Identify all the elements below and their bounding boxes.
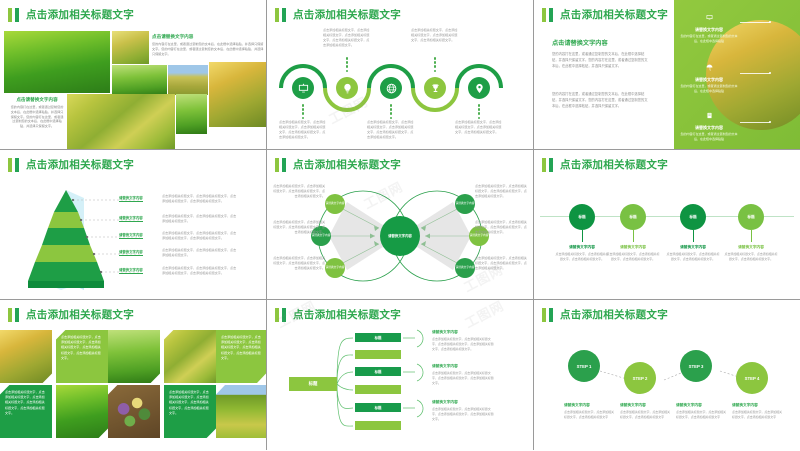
satellite-label: 请替换文字内容 [456, 266, 475, 269]
step-label: STEP 3 [689, 364, 704, 369]
mosaic-text: 点击添加相关标题文字，点击添加相关标题文字，点击添加相关标题文字，点击添加相关标… [61, 335, 103, 361]
pin-body: 点击添加相关标题文字，点击添加相关标题文字，点击添加相关标题文字。 [606, 252, 660, 261]
mosaic-text: 点击添加相关标题文字，点击添加相关标题文字，点击添加相关标题文字，点击添加相关标… [169, 390, 211, 416]
p3-item[interactable]: 请替换文字内容 您的内容打在这里，或者通过复制您的文本后，在此框中选择粘贴 [680, 58, 738, 94]
hub-text: 点击添加相关标题文字，点击添加相关标题文字，点击添加相关标题文字，点击添加相关标… [475, 256, 527, 271]
mosaic-photo-vegetable-basket [108, 385, 160, 438]
pyramid-level-body: 点击添加相关标题文字，点击添加相关标题文字，点击添加相关标题文字，点击添加相关标… [162, 266, 238, 276]
photo-rice-grass-green [176, 94, 207, 134]
branch-label: 标题 [375, 405, 382, 410]
timeline-pin[interactable]: 标题 [680, 204, 706, 242]
pin-title: 请替换文字内容 [555, 245, 609, 250]
pyramid-level-label: 请替换文字内容 [119, 267, 143, 274]
page-title: 点击添加相关标题文字 [560, 157, 668, 172]
step-circle[interactable]: STEP 3 [680, 350, 712, 382]
node-text: 点击添加相关标题文字，点击添加相关标题文字，点击添加相关标题文字，点击添加相关标… [411, 28, 459, 43]
page-title: 点击添加相关标题文字 [26, 307, 134, 322]
mindmap-branch[interactable]: 标题 [355, 367, 401, 376]
accent-bar-light [8, 308, 12, 322]
node-icon-trophy[interactable] [424, 77, 446, 99]
caption-title: 请替换文字内容 [620, 403, 672, 408]
node-icon-globe[interactable] [380, 77, 402, 99]
caption-title: 请替换文字内容 [564, 403, 616, 408]
pin-caption: 请替换文字内容 点击添加相关标题文字，点击添加相关标题文字，点击添加相关标题文字… [606, 245, 660, 261]
branch-label: 标题 [375, 369, 382, 374]
page-title: 点击添加相关标题文字 [560, 7, 668, 22]
hub-text: 点击添加相关标题文字，点击添加相关标题文字，点击添加相关标题文字，点击添加相关标… [273, 256, 325, 271]
panel-header: 点击添加相关标题文字 [275, 7, 401, 22]
page-title: 点击添加相关标题文字 [26, 7, 134, 22]
caption-title: 请替换文字内容 [432, 364, 494, 369]
mindmap-branch[interactable]: 标题 [355, 333, 401, 342]
pin-marker: 标题 [620, 204, 646, 230]
panel-photo-text-mosaic: 点击添加相关标题文字 点击添加相关标题文字，点击添加相关标题文字，点击添加相关标… [0, 300, 266, 450]
node-icon-lightbulb[interactable] [336, 77, 358, 99]
panel-header: 点击添加相关标题文字 [8, 307, 134, 322]
pyramid-level-body: 点击添加相关标题文字，点击添加相关标题文字，点击添加相关标题文字。 [162, 248, 238, 258]
pin-stem [693, 230, 694, 242]
caption-body: 点击添加相关标题文字，点击添加相关标题文字，点击添加相关标题文字 [620, 410, 672, 419]
caption-title: 请替换文字内容 [676, 403, 728, 408]
step-caption: 请替换文字内容 点击添加相关标题文字，点击添加相关标题文字，点击添加相关标题文字 [620, 403, 672, 419]
pin-marker: 标题 [680, 204, 706, 230]
pin-title: 请替换文字内容 [606, 245, 660, 250]
leader-line [740, 122, 770, 123]
mindmap-branch-sub[interactable] [355, 350, 401, 359]
accent-bar-dark [15, 308, 19, 322]
connector-dots [346, 57, 349, 72]
pin-body: 点击添加相关标题文字，点击添加相关标题文字，点击添加相关标题文字。 [724, 252, 778, 261]
trophy-icon [430, 83, 441, 94]
pin-marker-label: 标题 [689, 215, 696, 220]
accent-bar-dark [15, 8, 19, 22]
page-title: 点击添加相关标题文字 [293, 7, 401, 22]
caption-body: 点击添加相关标题文字，点击添加相关标题文字，点击添加相关标题文字 [676, 410, 728, 419]
hub-diagram: 请替换文字内容 请替换文字内容 请替换文字内容 请替换文字内容 请替换文字内容 … [267, 172, 533, 299]
caption-top: 点击请替换文字内容 您的内容打在这里，或者通过复制您的文本后，在此框中选择粘贴，… [152, 34, 264, 56]
satellite-label: 请替换文字内容 [326, 266, 345, 269]
caption-body: 您的内容打在这里，或者通过复制您的文本后，在此框中选择粘贴，并选择只保留文字。您… [152, 42, 264, 56]
umbrella-icon [706, 58, 713, 75]
mosaic-text: 点击添加相关标题文字，点击添加相关标题文字，点击添加相关标题文字，点击添加相关标… [5, 390, 47, 416]
mindmap-caption: 请替换文字内容 点击添加相关标题文字，点击添加相关标题文字，点击添加相关标题文字… [432, 330, 494, 351]
caption-body: 点击添加相关标题文字，点击添加相关标题文字，点击添加相关标题文字 [732, 410, 784, 419]
panel-header: 点击添加相关标题文字 [275, 157, 401, 172]
photo-wheat-ears-gold [112, 31, 149, 64]
step-caption: 请替换文字内容 点击添加相关标题文字，点击添加相关标题文字，点击添加相关标题文字 [676, 403, 728, 419]
accent-bar-light [542, 8, 546, 22]
pin-title: 请替换文字内容 [666, 245, 720, 250]
item-body: 您的内容打在这里，或者通过复制您的文本后，在此框中选择粘贴 [680, 132, 738, 142]
connector-dots [478, 104, 481, 119]
timeline-pin[interactable]: 标题 [738, 204, 764, 242]
mosaic-photo-rice-sprout-green [108, 330, 160, 383]
photo-rice-sprout-close [112, 65, 167, 95]
branch-label: 标题 [375, 335, 382, 340]
p3-item[interactable]: 请替换文字内容 您的内容打在这里，或者通过复制您的文本后，在此框中选择粘贴 [680, 8, 738, 44]
p3-item[interactable]: 请替换文字内容 您的内容打在这里，或者通过复制您的文本后，在此框中选择粘贴 [680, 106, 738, 142]
pin-marker-label: 标题 [629, 215, 636, 220]
pin-stem [751, 230, 752, 242]
mosaic-photo-wheat-ears-gold [0, 330, 52, 383]
step-caption: 请替换文字内容 点击添加相关标题文字，点击添加相关标题文字，点击添加相关标题文字 [732, 403, 784, 419]
item-title: 请替换文字内容 [680, 27, 738, 33]
pyramid-level-label: 请替换文字内容 [119, 195, 143, 202]
connector-dots [390, 104, 393, 119]
node-icon-monitor[interactable] [292, 77, 314, 99]
pin-caption: 请替换文字内容 点击添加相关标题文字，点击添加相关标题文字，点击添加相关标题文字… [555, 245, 609, 261]
panel-header: 点击添加相关标题文字 [542, 157, 668, 172]
mosaic-photo-field-landscape [164, 330, 216, 383]
mindmap-branch[interactable]: 标题 [355, 403, 401, 412]
panel-mind-map-brackets: 点击添加相关标题文字 标题 [267, 300, 533, 450]
location-pin-icon [474, 83, 485, 94]
monitor-icon [706, 8, 713, 25]
pin-stem [633, 230, 634, 242]
photo-open-field-sky [168, 65, 208, 95]
mosaic-text-cell: 点击添加相关标题文字，点击添加相关标题文字，点击添加相关标题文字，点击添加相关标… [164, 385, 216, 438]
panel-header: 点击添加相关标题文字 [8, 7, 134, 22]
panel-header: 点击添加相关标题文字 [275, 307, 401, 322]
panel-hub-and-spoke: 点击添加相关标题文字 请替换文字内容 [267, 150, 533, 299]
panel-step-circles: 点击添加相关标题文字 STEP 1 STEP 2 STEP 3 STEP 4 请… [534, 300, 800, 450]
globe-icon [386, 83, 397, 94]
node-text: 点击添加相关标题文字，点击添加相关标题文字，点击添加相关标题文字，点击添加相关标… [455, 120, 503, 135]
pyramid-level-label: 请替换文字内容 [119, 249, 143, 256]
mindmap-branch-sub[interactable] [355, 385, 401, 394]
caption-body: 点击添加相关标题文字，点击添加相关标题文字，点击添加相关标题文字，点击添加相关标… [432, 407, 494, 421]
node-text: 点击添加相关标题文字，点击添加相关标题文字，点击添加相关标题文字，点击添加相关标… [367, 120, 415, 140]
hub-text: 点击添加相关标题文字，点击添加相关标题文字，点击添加相关标题文字，点击添加相关标… [475, 220, 527, 235]
hub-satellite[interactable]: 请替换文字内容 [325, 194, 345, 214]
mindmap-root-label: 标题 [309, 381, 318, 387]
panel-pyramid-levels: 点击添加相关标题文字 请替换文字内容 请替换文字内容 请替换文 [0, 150, 266, 299]
photo-rice-paddy-green [4, 31, 110, 93]
hub-satellite[interactable]: 请替换文字内容 [325, 258, 345, 278]
pyramid-level-body: 点击添加相关标题文字，点击添加相关标题文字，点击添加相关标题文字，点击添加相关标… [162, 194, 238, 204]
pin-body: 点击添加相关标题文字，点击添加相关标题文字，点击添加相关标题文字。 [555, 252, 609, 261]
lead-paragraph-2: 您的内容打在这里，或者通过复制您的文本后，在此框中选择粘贴，并选择只保留文字。您… [552, 92, 648, 109]
accent-bar-dark [549, 158, 553, 172]
lead-heading: 点击请替换文字内容 [552, 38, 608, 47]
accent-bar-light [8, 8, 12, 22]
mindmap-caption: 请替换文字内容 点击添加相关标题文字，点击添加相关标题文字，点击添加相关标题文字… [432, 400, 494, 421]
pyramid-level-body: 点击添加相关标题文字，点击添加相关标题文字，点击添加相关标题文字。 [162, 214, 238, 224]
panel-split-image-text: 点击添加相关标题文字 点击请替换文字内容 您的内容打在这里，或者通过复制您的文本… [534, 0, 800, 149]
connector-dots [302, 104, 305, 119]
item-title: 请替换文字内容 [680, 77, 738, 83]
satellite-label: 请替换文字内容 [456, 202, 475, 205]
step-circle[interactable]: STEP 1 [568, 350, 600, 382]
mosaic-text-cell: 点击添加相关标题文字，点击添加相关标题文字，点击添加相关标题文字，点击添加相关标… [0, 385, 52, 438]
hub-satellite[interactable]: 请替换文字内容 [455, 258, 475, 278]
connector-dots [434, 57, 437, 72]
satellite-label: 请替换文字内容 [312, 234, 331, 237]
monitor-icon [298, 83, 309, 94]
caption-body: 点击添加相关标题文字，点击添加相关标题文字，点击添加相关标题文字，点击添加相关标… [432, 371, 494, 385]
step-circle[interactable]: STEP 2 [624, 362, 656, 394]
leader-line [740, 73, 770, 74]
pyramid-level-label: 请替换文字内容 [119, 215, 143, 222]
hub-text: 点击添加相关标题文字，点击添加相关标题文字，点击添加相关标题文字，点击添加相关标… [273, 220, 325, 235]
accent-bar-light [275, 308, 279, 322]
hub-center-node[interactable]: 请替换文字内容 [380, 216, 420, 256]
item-body: 您的内容打在这里，或者通过复制您的文本后，在此框中选择粘贴 [680, 34, 738, 44]
lightbulb-icon [342, 83, 353, 94]
mosaic-text-cell: 点击添加相关标题文字，点击添加相关标题文字，点击添加相关标题文字，点击添加相关标… [56, 330, 108, 383]
wave-diagram: 点击添加相关标题文字，点击添加相关标题文字，点击添加相关标题文字，点击添加相关标… [267, 22, 533, 149]
step-label: STEP 1 [577, 364, 592, 369]
mindmap-diagram: 标题 标题 标题 标题 请替换文字内容 点击添加相关标题文字，点击添加相关标题文… [267, 322, 533, 450]
accent-bar-light [275, 158, 279, 172]
node-icon-location-pin[interactable] [468, 77, 490, 99]
caption-title: 请替换文字内容 [432, 400, 494, 405]
pin-body: 点击添加相关标题文字，点击添加相关标题文字，点击添加相关标题文字。 [666, 252, 720, 261]
photo-rice-stalk-gold [209, 62, 266, 127]
caption-title: 请替换文字内容 [732, 403, 784, 408]
accent-bar-light [542, 158, 546, 172]
book-icon [706, 106, 713, 123]
accent-bar-light [275, 8, 279, 22]
pin-marker: 标题 [738, 204, 764, 230]
caption-body: 点击添加相关标题文字，点击添加相关标题文字，点击添加相关标题文字，点击添加相关标… [432, 337, 494, 351]
page-title: 点击添加相关标题文字 [293, 157, 401, 172]
node-text: 点击添加相关标题文字，点击添加相关标题文字，点击添加相关标题文字，点击添加相关标… [323, 28, 371, 48]
accent-bar-dark [549, 8, 553, 22]
caption-body: 点击添加相关标题文字，点击添加相关标题文字，点击添加相关标题文字 [564, 410, 616, 419]
pyramid-level-label: 请替换文字内容 [119, 232, 143, 239]
mindmap-root[interactable]: 标题 [289, 377, 337, 391]
caption-body: 您的内容打在这里，或者通过复制您的文本后，在此框中选择粘贴，并选择只保留文字。您… [10, 105, 64, 129]
panel-header: 点击添加相关标题文字 [542, 7, 668, 22]
satellite-label: 请替换文字内容 [326, 202, 345, 205]
mosaic-photo-rice-field-bright [56, 385, 108, 438]
pyramid-graphic [0, 150, 266, 299]
pin-caption: 请替换文字内容 点击添加相关标题文字，点击添加相关标题文字，点击添加相关标题文字… [724, 245, 778, 261]
caption-heading: 点击请替换文字内容 [152, 34, 264, 40]
panel-pin-timeline: 点击添加相关标题文字 标题 标题 标题 标题 请替换文字内容 点击添加相关标题文… [534, 150, 800, 299]
pin-stem [582, 230, 583, 242]
pyramid-level-body: 点击添加相关标题文字，点击添加相关标题文字，点击添加相关标题文字，点击添加相关标… [162, 231, 238, 241]
pin-marker-label: 标题 [578, 215, 585, 220]
accent-bar-dark [282, 8, 286, 22]
mindmap-caption: 请替换文字内容 点击添加相关标题文字，点击添加相关标题文字，点击添加相关标题文字… [432, 364, 494, 385]
pin-marker-label: 标题 [747, 215, 754, 220]
accent-bar-dark [282, 158, 286, 172]
caption-bottom: 点击请替换文字内容 您的内容打在这里，或者通过复制您的文本后，在此框中选择粘贴，… [10, 97, 64, 129]
step-caption: 请替换文字内容 点击添加相关标题文字，点击添加相关标题文字，点击添加相关标题文字 [564, 403, 616, 419]
lead-paragraph-1: 您的内容打在这里，或者通过复制您的文本后，在此框中选择粘贴，并选择只保留文字。您… [552, 52, 648, 69]
hub-satellite[interactable]: 请替换文字内容 [455, 194, 475, 214]
mosaic-text-cell: 点击添加相关标题文字，点击添加相关标题文字，点击添加相关标题文字，点击添加相关标… [216, 330, 266, 383]
p3-left-column [534, 0, 674, 149]
item-body: 您的内容打在这里，或者通过复制您的文本后，在此框中选择粘贴 [680, 84, 738, 94]
mindmap-branch-sub[interactable] [355, 421, 401, 430]
pin-marker: 标题 [569, 204, 595, 230]
panel-photo-collage: 点击添加相关标题文字 点击请替换文字内容 您的内容打在这里，或者通过复制您的文本… [0, 0, 266, 149]
pin-caption: 请替换文字内容 点击添加相关标题文字，点击添加相关标题文字，点击添加相关标题文字… [666, 245, 720, 261]
hub-text: 点击添加相关标题文字，点击添加相关标题文字，点击添加相关标题文字，点击添加相关标… [475, 184, 527, 199]
panel-wave-process: 点击添加相关标题文字 [267, 0, 533, 149]
mosaic-text: 点击添加相关标题文字，点击添加相关标题文字，点击添加相关标题文字，点击添加相关标… [221, 335, 261, 361]
step-label: STEP 2 [633, 376, 648, 381]
hub-text: 点击添加相关标题文字，点击添加相关标题文字，点击添加相关标题文字，点击添加相关标… [273, 184, 325, 199]
pin-title: 请替换文字内容 [724, 245, 778, 250]
page-title: 点击添加相关标题文字 [293, 307, 401, 322]
photo-terraced-field-aerial [67, 94, 175, 149]
mosaic-photo-canola-rows-aerial [216, 385, 266, 438]
slide-grid: 点击添加相关标题文字 点击请替换文字内容 您的内容打在这里，或者通过复制您的文本… [0, 0, 800, 451]
step-circle[interactable]: STEP 4 [736, 362, 768, 394]
leader-line [740, 22, 770, 23]
satellite-label: 请替换文字内容 [470, 234, 489, 237]
timeline-pin[interactable]: 标题 [620, 204, 646, 242]
accent-bar-dark [282, 308, 286, 322]
hub-center-label: 请替换文字内容 [388, 234, 412, 238]
timeline-pin[interactable]: 标题 [569, 204, 595, 242]
caption-heading: 点击请替换文字内容 [10, 97, 64, 103]
node-text: 点击添加相关标题文字，点击添加相关标题文字，点击添加相关标题文字，点击添加相关标… [279, 120, 327, 140]
caption-title: 请替换文字内容 [432, 330, 494, 335]
item-title: 请替换文字内容 [680, 125, 738, 131]
step-label: STEP 4 [745, 376, 760, 381]
